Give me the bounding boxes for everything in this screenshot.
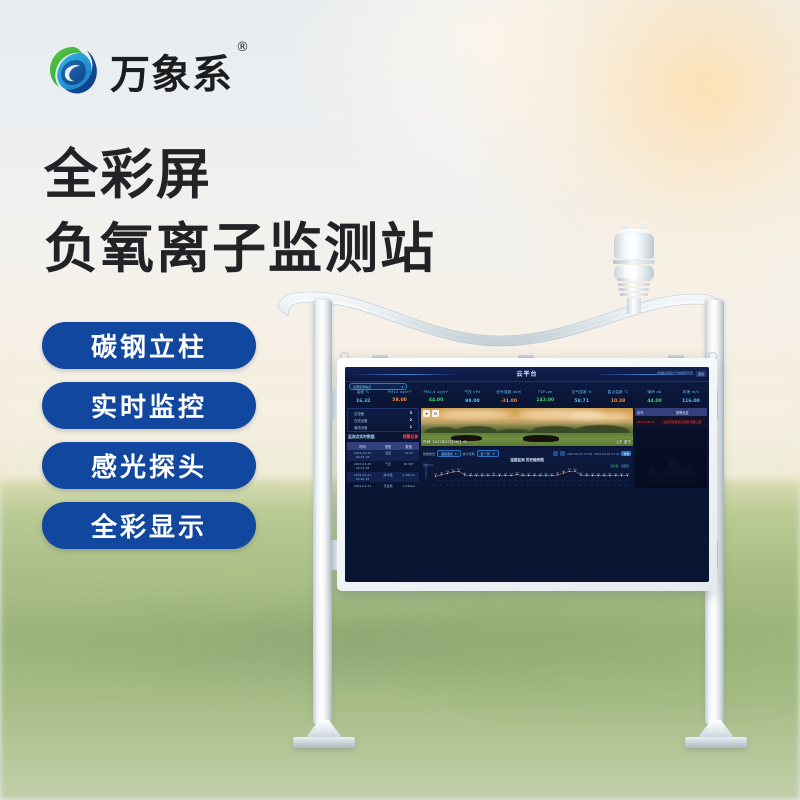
chart-period-label: 统计周期 [463, 452, 475, 456]
chart-svg: 510152025303511.203-01 00:0014.503-01 04… [423, 464, 631, 486]
table-col-type: 类型 [378, 444, 399, 449]
chart-plot: 单位(℃) 最高值 最低值 510152025303511.203-01 00:… [423, 464, 631, 486]
svg-text:11.2: 11.2 [434, 474, 437, 476]
svg-text:12.6: 12.6 [521, 473, 524, 475]
device-stat-value: 2 [410, 418, 412, 423]
metric-label: 空气湿度 % [563, 390, 599, 395]
svg-text:03-01 00:00: 03-01 00:00 [430, 484, 437, 486]
shield-fin [620, 293, 648, 296]
svg-text:03-04 20:00: 03-04 20:00 [563, 484, 570, 486]
metric-item: TSP µm 143.00 [527, 390, 563, 406]
svg-text:12.6: 12.6 [597, 473, 600, 475]
table-header: 时间 类型 数值 [347, 442, 419, 450]
svg-text:03-02 20:00: 03-02 20:00 [494, 484, 501, 486]
base-plate-right [685, 722, 747, 748]
metric-value: 143.00 [527, 398, 563, 403]
screen-header: 云平台 中国科学院大气物理研究所 退出 [345, 367, 709, 382]
svg-text:03-05 16:00: 03-05 16:00 [592, 484, 599, 486]
svg-text:03-03 16:00: 03-03 16:00 [523, 484, 530, 486]
svg-text:12.6: 12.6 [545, 473, 548, 475]
svg-text:12.6: 12.6 [475, 473, 478, 475]
chart-type-value: 温度变化 [441, 452, 453, 456]
svg-text:03-01 04:00: 03-01 04:00 [436, 484, 443, 486]
svg-text:12.6: 12.6 [591, 473, 594, 475]
base-foot-right [685, 737, 747, 748]
svg-text:03-04 12:00: 03-04 12:00 [552, 484, 559, 486]
center-panel: ✛ ⟳ 时间: 2022年03月06日 42 山东 潍坊 数据类型 温度变化 ▾ [421, 408, 633, 488]
registered-mark: ® [236, 40, 250, 55]
svg-text:03-03 00:00: 03-03 00:00 [499, 484, 506, 486]
device-stat-label: 总设备 [354, 411, 364, 416]
svg-text:12.6: 12.6 [469, 473, 472, 475]
brand-name: 万象系 ® [110, 42, 233, 100]
chart-legend: 最高值 最低值 [610, 464, 629, 468]
sensor-body [614, 233, 654, 259]
legend-item-min: 最低值 [621, 464, 629, 468]
svg-text:12.6: 12.6 [585, 473, 588, 475]
display-screen[interactable]: 云平台 中国科学院大气物理研究所 退出 全部监测站点 ▾ 温度 ℃ 16.32 … [345, 367, 709, 582]
chart-controls: 数据类型 温度变化 ▾ 统计周期 近一周 ▾ [423, 450, 631, 457]
svg-text:12.6: 12.6 [498, 473, 501, 475]
right-panel: 序号 报警信息 03-12 16:17 温度传感器 超过阈值 预警上报 [635, 408, 707, 488]
chart-type-label: 数据类型 [423, 452, 435, 456]
date-end[interactable]: 2022-03-07 07:00 [594, 452, 619, 456]
shield-fin [618, 283, 650, 286]
table-col-value: 数值 [398, 444, 419, 449]
brand-name-text: 万象系 [110, 52, 233, 98]
shield-fin [619, 288, 649, 291]
display-enclosure: 云平台 中国科学院大气物理研究所 退出 全部监测站点 ▾ 温度 ℃ 16.32 … [337, 358, 717, 591]
table-row[interactable]: 2022-04-25 09:23:18气压18.387 [347, 461, 419, 472]
device-stat-label: 离线设备 [354, 425, 368, 430]
svg-text:12.6: 12.6 [603, 473, 606, 475]
metric-label: PM2.5 ug/m³ [418, 390, 454, 394]
base-foot-left [293, 737, 355, 748]
svg-text:22.4: 22.4 [568, 469, 571, 471]
cloud-shape [569, 413, 628, 420]
svg-text:03-05 12:00: 03-05 12:00 [587, 484, 594, 486]
metric-value: 58.71 [563, 399, 599, 404]
row-value: 18.387 [398, 462, 419, 470]
svg-text:03-06 08:00: 03-06 08:00 [616, 484, 623, 486]
chart-period-value: 近一周 [481, 452, 490, 456]
metric-label: PM10 ug/m³ [381, 390, 417, 394]
metric-value: 58.00 [381, 398, 417, 403]
svg-text:14.1: 14.1 [463, 473, 466, 475]
svg-text:17.8: 17.8 [446, 471, 449, 473]
svg-text:12.6: 12.6 [626, 473, 629, 475]
device-stat-label: 在线设备 [354, 418, 368, 423]
svg-text:03-04 04:00: 03-04 04:00 [540, 484, 547, 486]
alarm-device: 03-12 16:17 [637, 420, 660, 424]
metric-label: 噪声 db [636, 390, 672, 395]
svg-text:21.3: 21.3 [452, 470, 455, 472]
metric-label: 风速 m/s [673, 390, 709, 395]
device-stat-row: 总设备 3 [354, 411, 412, 416]
svg-text:12.6: 12.6 [486, 473, 489, 475]
svg-text:03-03 04:00: 03-03 04:00 [505, 484, 512, 486]
station-select[interactable]: 全部监测站点 ▾ [349, 383, 407, 390]
svg-text:12.6: 12.6 [539, 473, 542, 475]
svg-text:12.6: 12.6 [550, 473, 553, 475]
svg-text:22.7: 22.7 [457, 469, 460, 471]
station-select-value: 全部监测站点 [353, 385, 371, 389]
corp-label: 中国科学院大气物理研究所 [657, 371, 693, 375]
chart-title: 温度监测 历史趋势图 [423, 458, 631, 463]
support-post-left [313, 300, 332, 724]
svg-text:13.8: 13.8 [579, 473, 582, 475]
table-row[interactable]: 2022-04-21 15:12:11蒸发量1.03kpa [347, 482, 419, 488]
metric-label: 信号强度 dbm [491, 390, 527, 395]
sensor-ring-upper [613, 260, 655, 264]
device-status-box: 总设备 3 在线设备 2 离线设备 1 [347, 408, 419, 432]
row-value: 1.03kpa [398, 484, 419, 488]
crosshair-icon[interactable]: ✛ [423, 410, 430, 417]
metric-label: TSP µm [527, 390, 563, 394]
cattle-silhouette [523, 435, 559, 442]
row-time: 2022-04-25 09:23:18 [347, 462, 378, 470]
row-type: 气压 [378, 462, 399, 470]
headline-line2: 负氧离子监测站 [44, 204, 436, 283]
svg-text:03-04 08:00: 03-04 08:00 [546, 484, 553, 486]
brand-logo-row: 万象系 ® [46, 42, 233, 100]
metric-value: 116.00 [673, 399, 709, 404]
metric-item: 温度 ℃ 16.32 [345, 390, 381, 406]
svg-text:25: 25 [425, 470, 427, 472]
svg-text:10: 10 [425, 477, 427, 479]
device-stat-row: 离线设备 1 [354, 425, 412, 430]
data-table[interactable]: 时间 类型 数值 2022-04-25 09:23:18温度15.872022-… [347, 442, 419, 488]
svg-text:03-01 16:00: 03-01 16:00 [453, 484, 460, 486]
metric-item: 信号强度 dbm -31.00 [491, 390, 527, 406]
sensor-stem [627, 298, 641, 314]
svg-text:03-01 12:00: 03-01 12:00 [447, 484, 454, 486]
svg-text:18.6: 18.6 [562, 471, 565, 473]
svg-text:12.6: 12.6 [504, 473, 507, 475]
svg-text:03-03 12:00: 03-03 12:00 [517, 484, 524, 486]
metric-item: 露点温度 ℃ 10.38 [600, 390, 636, 406]
svg-text:13.4: 13.4 [492, 473, 495, 475]
data-table-header-row: 监测点实时数据 报警记录 [347, 434, 419, 440]
chevron-down-icon: ▾ [455, 452, 457, 456]
svg-text:14.5: 14.5 [440, 473, 443, 475]
svg-text:5: 5 [425, 479, 426, 481]
svg-text:03-06 04:00: 03-06 04:00 [610, 484, 617, 486]
metric-item: 噪声 db 44.00 [636, 390, 672, 406]
svg-text:03-05 08:00: 03-05 08:00 [581, 484, 588, 486]
svg-text:03-06 12:00: 03-06 12:00 [621, 484, 628, 486]
platform-title: 云平台 [516, 369, 537, 378]
device-stat-value: 1 [410, 425, 412, 430]
row-value: 0.38mm [398, 473, 419, 481]
metric-value: 98.00 [454, 399, 490, 404]
svg-text:12.6: 12.6 [614, 473, 617, 475]
svg-text:03-03 20:00: 03-03 20:00 [529, 484, 536, 486]
svg-text:23.1: 23.1 [574, 469, 577, 471]
feature-badge-full-color: 全彩显示 [42, 502, 256, 549]
metric-item: PM10 ug/m³ 58.00 [381, 390, 417, 406]
svg-text:12.6: 12.6 [481, 473, 484, 475]
row-type: 蒸发量 [378, 484, 399, 488]
svg-text:03-02 08:00: 03-02 08:00 [476, 484, 483, 486]
chart-unit-label: 单位(℃) [423, 463, 433, 467]
alarm-col-index: 序号 [637, 410, 660, 415]
alarm-records-link[interactable]: 报警记录 [403, 434, 418, 440]
svg-text:03-02 00:00: 03-02 00:00 [465, 484, 472, 486]
base-plate-left [293, 722, 355, 748]
weather-sensor [608, 220, 660, 300]
svg-text:14.2: 14.2 [556, 473, 559, 475]
alarm-message: 温度传感器 超过阈值 预警上报 [660, 420, 705, 424]
svg-text:12.6: 12.6 [527, 473, 530, 475]
chevron-down-icon: ▾ [493, 452, 495, 456]
svg-text:03-05 20:00: 03-05 20:00 [598, 484, 605, 486]
metric-value: 10.38 [600, 399, 636, 404]
camera-feed[interactable]: ✛ ⟳ 时间: 2022年03月06日 42 山东 潍坊 [421, 408, 633, 446]
metric-label: 露点温度 ℃ [600, 390, 636, 395]
camera-rotate-icon[interactable]: ⟳ [432, 410, 439, 417]
svg-text:30: 30 [425, 468, 427, 470]
feature-badge-steel-post: 碳钢立柱 [42, 322, 256, 369]
headline-line1: 全彩屏 [44, 130, 212, 209]
header-deco-left [351, 374, 461, 375]
date-start[interactable]: 2022-03-01 07:00 [567, 452, 592, 456]
svg-text:03-05 04:00: 03-05 04:00 [575, 484, 582, 486]
metric-value: 44.00 [418, 398, 454, 403]
table-col-time: 时间 [347, 444, 378, 449]
svg-text:03-02 04:00: 03-02 04:00 [470, 484, 477, 486]
device-stat-row: 在线设备 2 [354, 418, 412, 423]
row-value: 15.87 [398, 451, 419, 459]
row-type: 温度 [378, 451, 399, 459]
metric-item: 气压 kPa 98.00 [454, 390, 490, 406]
screen-body: 总设备 3 在线设备 2 离线设备 1 监测点实时数据 [345, 406, 709, 490]
svg-text:14.8: 14.8 [515, 472, 518, 474]
metric-item: 空气湿度 % 58.71 [563, 390, 599, 406]
svg-text:03-03 08:00: 03-03 08:00 [511, 484, 518, 486]
table-row[interactable]: 2022-04-21 16:40:19降水量0.38mm [347, 472, 419, 483]
feature-badge-list: 碳钢立柱 实时监控 感光探头 全彩显示 [42, 322, 256, 549]
alarm-col-info: 报警信息 [660, 410, 705, 415]
feature-badge-light-sensor: 感光探头 [42, 442, 256, 489]
left-panel: 总设备 3 在线设备 2 离线设备 1 监测点实时数据 [347, 408, 419, 488]
cloud-shape [438, 410, 510, 418]
chart-type-select[interactable]: 温度变化 ▾ [437, 450, 461, 457]
svg-text:03-01 08:00: 03-01 08:00 [441, 484, 448, 486]
svg-text:03-04 00:00: 03-04 00:00 [534, 484, 541, 486]
svg-text:12.6: 12.6 [533, 473, 536, 475]
alarm-row[interactable]: 03-12 16:17 温度传感器 超过阈值 预警上报 [635, 418, 707, 425]
legend-item-max: 最高值 [610, 464, 618, 468]
svg-text:20: 20 [425, 472, 427, 474]
metric-value: -31.00 [491, 399, 527, 404]
globe-swirl-logo-icon [46, 44, 100, 98]
row-time: 2022-04-25 09:23:18 [347, 451, 378, 459]
svg-text:12.6: 12.6 [510, 473, 513, 475]
metric-value: 44.00 [636, 399, 672, 404]
svg-text:03-04 16:00: 03-04 16:00 [558, 484, 565, 486]
feature-badge-realtime-monitor: 实时监控 [42, 382, 256, 429]
svg-text:03-01 20:00: 03-01 20:00 [459, 484, 466, 486]
camera-location: 山东 潍坊 [615, 440, 631, 445]
shield-fin [617, 278, 651, 281]
svg-text:03-05 00:00: 03-05 00:00 [569, 484, 576, 486]
metric-label: 温度 ℃ [345, 390, 381, 395]
chevron-down-icon: ▾ [401, 385, 403, 389]
row-time: 2022-04-21 16:40:19 [347, 473, 378, 481]
sensor-body-lower [614, 265, 654, 279]
svg-text:15: 15 [425, 475, 427, 477]
exit-button[interactable]: 退出 [696, 371, 706, 377]
alarm-header: 序号 报警信息 [635, 408, 707, 416]
row-type: 降水量 [378, 473, 399, 481]
view-mode-bar-icon[interactable] [560, 451, 565, 456]
view-mode-line-icon[interactable] [553, 451, 558, 456]
chart-period-select[interactable]: 近一周 ▾ [477, 450, 499, 457]
terrain-silhouette [641, 450, 701, 488]
metric-item: 风速 m/s 116.00 [673, 390, 709, 406]
data-table-title: 监测点实时数据 [348, 434, 375, 440]
metric-value: 16.32 [345, 399, 381, 404]
metric-item: PM2.5 ug/m³ 44.00 [418, 390, 454, 406]
alarm-empty-area [635, 427, 707, 488]
svg-text:03-02 16:00: 03-02 16:00 [488, 484, 495, 486]
camera-timestamp: 时间: 2022年03月06日 42 [423, 440, 467, 445]
table-row[interactable]: 2022-04-25 09:23:18温度15.87 [347, 450, 419, 461]
radiation-shield-fins [617, 278, 651, 300]
svg-text:12.6: 12.6 [620, 473, 623, 475]
svg-text:03-02 12:00: 03-02 12:00 [482, 484, 489, 486]
trend-chart-panel: 数据类型 温度变化 ▾ 统计周期 近一周 ▾ [421, 448, 633, 488]
metric-label: 气压 kPa [454, 390, 490, 395]
svg-text:12.6: 12.6 [608, 473, 611, 475]
row-time: 2022-04-21 15:12:11 [347, 484, 378, 488]
svg-text:03-06 00:00: 03-06 00:00 [604, 484, 611, 486]
device-stat-value: 3 [410, 411, 412, 416]
query-button[interactable]: 查询 [621, 451, 631, 456]
table-body: 2022-04-25 09:23:18温度15.872022-04-25 09:… [347, 450, 419, 488]
